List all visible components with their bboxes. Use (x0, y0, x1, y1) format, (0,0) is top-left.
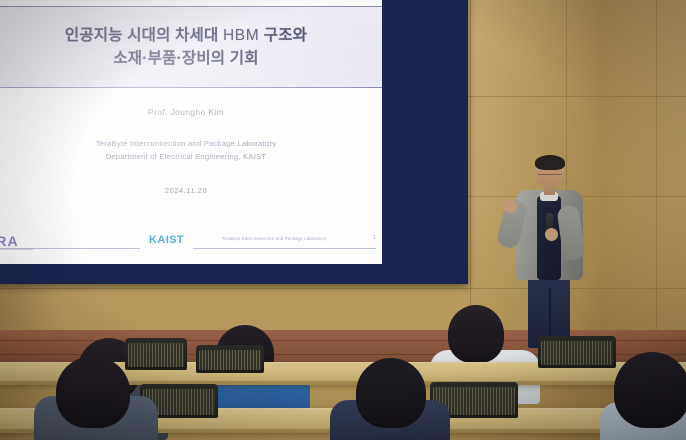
glasses-icon (538, 168, 562, 175)
chair-back (538, 336, 616, 368)
slide-title-line-2: 소재·부품·장비의 기회 (113, 47, 258, 70)
slide-page-number: 1 (373, 235, 376, 241)
kaist-logo: KAIST (149, 234, 184, 246)
attendee-head (356, 358, 426, 428)
lecture-hall-scene: 인공지능 시대의 차세대 HBM 구조와 소재·부품·장비의 기회 Prof. … (0, 0, 686, 440)
projection-screen-surface: 인공지능 시대의 차세대 HBM 구조와 소재·부품·장비의 기회 Prof. … (0, 0, 382, 264)
attendee-head (56, 356, 130, 428)
slide-title-hbm: HBM (223, 27, 259, 44)
slide-title-band: 인공지능 시대의 차세대 HBM 구조와 소재·부품·장비의 기회 (0, 6, 382, 88)
era-logo: ERA (0, 233, 19, 249)
presenter-gesturing-hand (503, 199, 517, 213)
slide-speaker-name: Prof. Joungho Kim (0, 107, 382, 117)
footer-lab-caption: TeraByte Interconnection and Package Lab… (222, 236, 327, 241)
slide-affiliation: TeraByte Interconnection and Package Lab… (0, 138, 382, 163)
slide-title-line-1: 인공지능 시대의 차세대 HBM 구조와 (65, 24, 307, 47)
slide-title-korean-tail: 구조와 (259, 27, 307, 44)
slide-affiliation-line-2: Department of Electrical Engineering, KA… (0, 151, 382, 164)
attendee-head (448, 305, 504, 363)
chair-back (196, 345, 264, 373)
footer-rule-right (193, 248, 376, 249)
attendee-head (614, 352, 686, 428)
footer-rule-left (0, 248, 140, 249)
slide-title-korean-head: 인공지능 시대의 차세대 (65, 27, 223, 44)
presenter-mic-hand (545, 228, 558, 241)
slide-date: 2024.11.20 (0, 186, 382, 195)
slide-affiliation-line-1: TeraByte Interconnection and Package Lab… (0, 138, 382, 151)
projection-screen-frame: 인공지능 시대의 차세대 HBM 구조와 소재·부품·장비의 기회 Prof. … (0, 0, 468, 284)
slide-footer: ERA KAIST TeraByte Interconnection and P… (0, 233, 382, 255)
presentation-slide: 인공지능 시대의 차세대 HBM 구조와 소재·부품·장비의 기회 Prof. … (0, 0, 382, 264)
chair-back (125, 338, 187, 370)
